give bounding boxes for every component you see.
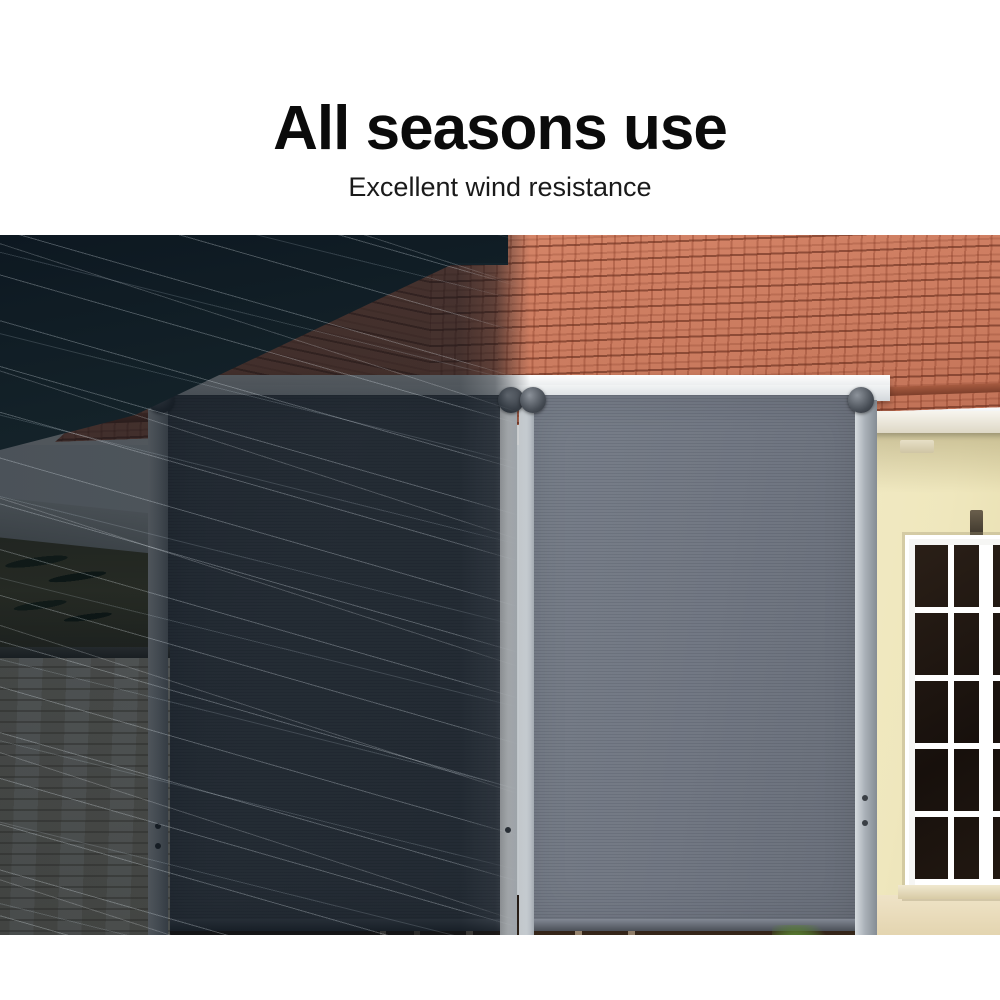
stone-wall <box>0 655 170 935</box>
post-bolt <box>862 795 868 801</box>
post-bolt <box>155 823 161 829</box>
door-center-mullion <box>979 545 991 888</box>
wall-lamp-icon <box>970 510 983 537</box>
support-post-center-a <box>500 400 517 935</box>
french-door <box>905 535 1000 898</box>
blind-weave-texture <box>167 395 507 925</box>
roller-blind-left <box>167 395 507 925</box>
stone-wall-cap <box>0 647 170 658</box>
blind-bracket-icon <box>848 387 874 413</box>
page-subtitle: Excellent wind resistance <box>0 174 1000 201</box>
support-post-center-b <box>519 400 534 935</box>
header-band: All seasons use Excellent wind resistanc… <box>0 0 1000 235</box>
garden-shrub <box>772 925 842 935</box>
door-sill <box>898 885 1000 899</box>
post-bolt <box>155 843 161 849</box>
product-marketing-image: All seasons use Excellent wind resistanc… <box>0 0 1000 1000</box>
roller-blind-right <box>530 395 860 925</box>
post-bolt <box>862 820 868 826</box>
bottom-white-band <box>0 935 1000 1000</box>
post-bolt <box>505 827 511 833</box>
blind-weave-texture <box>530 395 860 925</box>
gutter-box <box>900 440 934 453</box>
product-photo: Note: Only prevent level 1-2 wind. <box>0 235 1000 935</box>
blind-left-bottom-rail <box>163 919 511 931</box>
blind-bracket-icon <box>520 387 546 413</box>
page-title: All seasons use <box>0 98 1000 160</box>
support-post-left <box>148 400 168 935</box>
support-post-right <box>855 400 877 935</box>
